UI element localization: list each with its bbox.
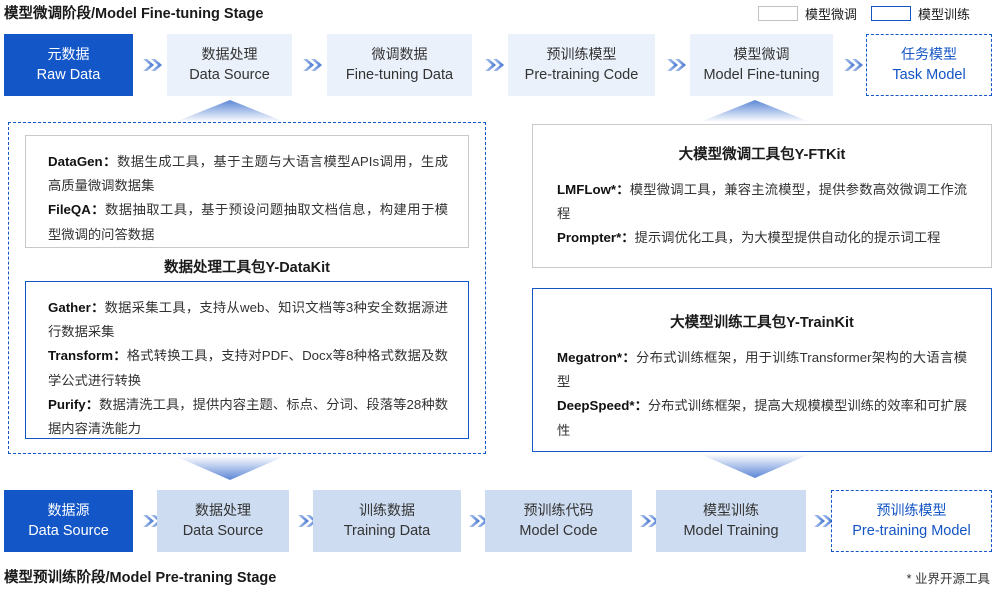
tool-name-prompter: Prompter*： <box>557 230 635 245</box>
bottom-stage-title: 模型预训练阶段/Model Pre-traning Stage <box>4 566 276 587</box>
trainkit-title: 大模型训练工具包Y-TrainKit <box>557 311 967 332</box>
legend-label-training: 模型训练 <box>918 4 970 23</box>
bottom-flow-box-data-source[interactable]: 数据源 Data Source <box>4 490 133 552</box>
box-label-cn: 数据处理 <box>202 45 258 64</box>
tool-name-datagen: DataGen： <box>48 154 117 169</box>
bottom-flow-box-data-processing[interactable]: 数据处理 Data Source <box>157 490 289 552</box>
footnote-open-source: * 业界开源工具 <box>907 568 990 587</box>
tool-name-megatron: Megatron*： <box>557 350 636 365</box>
top-flow-box-fine-tuning-data[interactable]: 微调数据 Fine-tuning Data <box>327 34 472 96</box>
tool-line-megatron: Megatron*：分布式训练框架，用于训练Transformer架构的大语言模… <box>557 346 967 394</box>
chevron-right-icon-t3 <box>484 57 506 73</box>
box-label-en: Task Model <box>892 65 965 85</box>
chevron-right-icon-t5 <box>843 57 865 73</box>
tool-line-deepspeed: DeepSpeed*：分布式训练框架，提高大规模模型训练的效率和可扩展性 <box>557 394 967 442</box>
box-label-cn: 模型训练 <box>703 501 759 520</box>
top-flow-box-model-fine-tuning[interactable]: 模型微调 Model Fine-tuning <box>690 34 833 96</box>
left-toolkit-panel: DataGen：数据生成工具，基于主题与大语言模型APIs调用，生成高质量微调数… <box>8 122 486 454</box>
box-label-cn: 训练数据 <box>359 501 415 520</box>
connector-triangle-down-right <box>700 454 810 478</box>
box-label-cn: 预训练代码 <box>524 501 594 520</box>
tool-desc-prompter: 提示调优化工具，为大模型提供自动化的提示词工程 <box>635 230 941 245</box>
tool-name-lmflow: LMFLow*： <box>557 182 630 197</box>
tool-desc-fileqa: 数据抽取工具，基于预设问题抽取文档信息，构建用于模型微调的问答数据 <box>48 202 448 241</box>
box-label-en: Data Source <box>28 521 109 541</box>
box-label-en: Data Source <box>189 65 270 85</box>
tool-name-deepspeed: DeepSpeed*： <box>557 398 648 413</box>
tool-line-prompter: Prompter*：提示调优化工具，为大模型提供自动化的提示词工程 <box>557 226 967 250</box>
top-flow-box-task-model[interactable]: 任务模型 Task Model <box>866 34 992 96</box>
box-label-cn: 数据源 <box>48 501 90 520</box>
box-label-cn: 数据处理 <box>195 501 251 520</box>
tool-desc-purify: 数据清洗工具，提供内容主题、标点、分词、段落等28种数据内容清洗能力 <box>48 397 448 436</box>
box-label-cn: 元数据 <box>48 45 90 64</box>
top-stage-title: 模型微调阶段/Model Fine-tuning Stage <box>4 2 263 23</box>
box-label-en: Pre-training Model <box>852 521 970 541</box>
trainkit-content: 大模型训练工具包Y-TrainKit Megatron*：分布式训练框架，用于训… <box>533 289 991 451</box>
tool-line-gather: Gather：数据采集工具，支持从web、知识文档等3种安全数据源进行数据采集 <box>48 296 448 344</box>
tool-line-lmflow: LMFLow*：模型微调工具，兼容主流模型，提供参数高效微调工作流程 <box>557 178 967 226</box>
datakit-title: 数据处理工具包Y-DataKit <box>9 256 485 277</box>
box-label-en: Training Data <box>344 521 431 541</box>
tool-line-fileqa: FileQA：数据抽取工具，基于预设问题抽取文档信息，构建用于模型微调的问答数据 <box>48 198 448 246</box>
tool-line-transform: Transform：格式转换工具，支持对PDF、Docx等8种格式数据及数学公式… <box>48 344 448 392</box>
legend-label-fine-tuning: 模型微调 <box>805 4 857 23</box>
connector-triangle-down-left <box>175 456 285 480</box>
tool-line-datagen: DataGen：数据生成工具，基于主题与大语言模型APIs调用，生成高质量微调数… <box>48 150 448 198</box>
tool-desc-gather: 数据采集工具，支持从web、知识文档等3种安全数据源进行数据采集 <box>48 300 448 339</box>
ftkit-panel: 大模型微调工具包Y-FTKit LMFLow*：模型微调工具，兼容主流模型，提供… <box>532 124 992 268</box>
legend-swatch-blue-icon <box>871 6 911 21</box>
box-label-en: Model Code <box>519 521 597 541</box>
top-flow-box-pre-training-code[interactable]: 预训练模型 Pre-training Code <box>508 34 655 96</box>
bottom-flow-box-model-code[interactable]: 预训练代码 Model Code <box>485 490 632 552</box>
box-label-cn: 预训练模型 <box>877 501 947 520</box>
ftkit-title: 大模型微调工具包Y-FTKit <box>557 143 967 164</box>
legend-item-fine-tuning: 模型微调 <box>758 4 857 23</box>
legend: 模型微调 模型训练 <box>758 4 970 23</box>
top-flow-box-data-source[interactable]: 数据处理 Data Source <box>167 34 292 96</box>
box-label-en: Pre-training Code <box>525 65 639 85</box>
datagen-fileqa-box: DataGen：数据生成工具，基于主题与大语言模型APIs调用，生成高质量微调数… <box>25 135 469 248</box>
datakit-tools-list: Gather：数据采集工具，支持从web、知识文档等3种安全数据源进行数据采集 … <box>26 282 468 438</box>
bottom-flow-box-pre-training-model[interactable]: 预训练模型 Pre-training Model <box>831 490 992 552</box>
tool-name-purify: Purify： <box>48 397 99 412</box>
datagen-fileqa-list: DataGen：数据生成工具，基于主题与大语言模型APIs调用，生成高质量微调数… <box>26 136 468 247</box>
connector-triangle-up-right <box>700 100 810 122</box>
tool-name-gather: Gather： <box>48 300 105 315</box>
chevron-right-icon-t1 <box>142 57 164 73</box>
legend-item-training: 模型训练 <box>871 4 970 23</box>
box-label-cn: 微调数据 <box>372 45 428 64</box>
bottom-flow-box-model-training[interactable]: 模型训练 Model Training <box>656 490 806 552</box>
box-label-en: Model Fine-tuning <box>703 65 819 85</box>
tool-name-transform: Transform： <box>48 348 127 363</box>
trainkit-panel: 大模型训练工具包Y-TrainKit Megatron*：分布式训练框架，用于训… <box>532 288 992 452</box>
bottom-flow-box-training-data[interactable]: 训练数据 Training Data <box>313 490 461 552</box>
box-label-en: Data Source <box>183 521 264 541</box>
box-label-en: Raw Data <box>37 65 101 85</box>
chevron-right-icon-t4 <box>666 57 688 73</box>
tool-line-purify: Purify：数据清洗工具，提供内容主题、标点、分词、段落等28种数据内容清洗能… <box>48 393 448 441</box>
diagram-canvas: 模型微调阶段/Model Fine-tuning Stage 模型预训练阶段/M… <box>0 0 996 600</box>
datakit-tools-box: Gather：数据采集工具，支持从web、知识文档等3种安全数据源进行数据采集 … <box>25 281 469 439</box>
box-label-en: Model Training <box>683 521 778 541</box>
legend-swatch-gray-icon <box>758 6 798 21</box>
chevron-right-icon-t2 <box>302 57 324 73</box>
box-label-en: Fine-tuning Data <box>346 65 453 85</box>
box-label-cn: 任务模型 <box>901 45 957 64</box>
top-flow-box-raw-data[interactable]: 元数据 Raw Data <box>4 34 133 96</box>
ftkit-content: 大模型微调工具包Y-FTKit LMFLow*：模型微调工具，兼容主流模型，提供… <box>533 125 991 267</box>
tool-name-fileqa: FileQA： <box>48 202 105 217</box>
box-label-cn: 模型微调 <box>734 45 790 64</box>
connector-triangle-up-left <box>175 100 285 122</box>
box-label-cn: 预训练模型 <box>547 45 617 64</box>
